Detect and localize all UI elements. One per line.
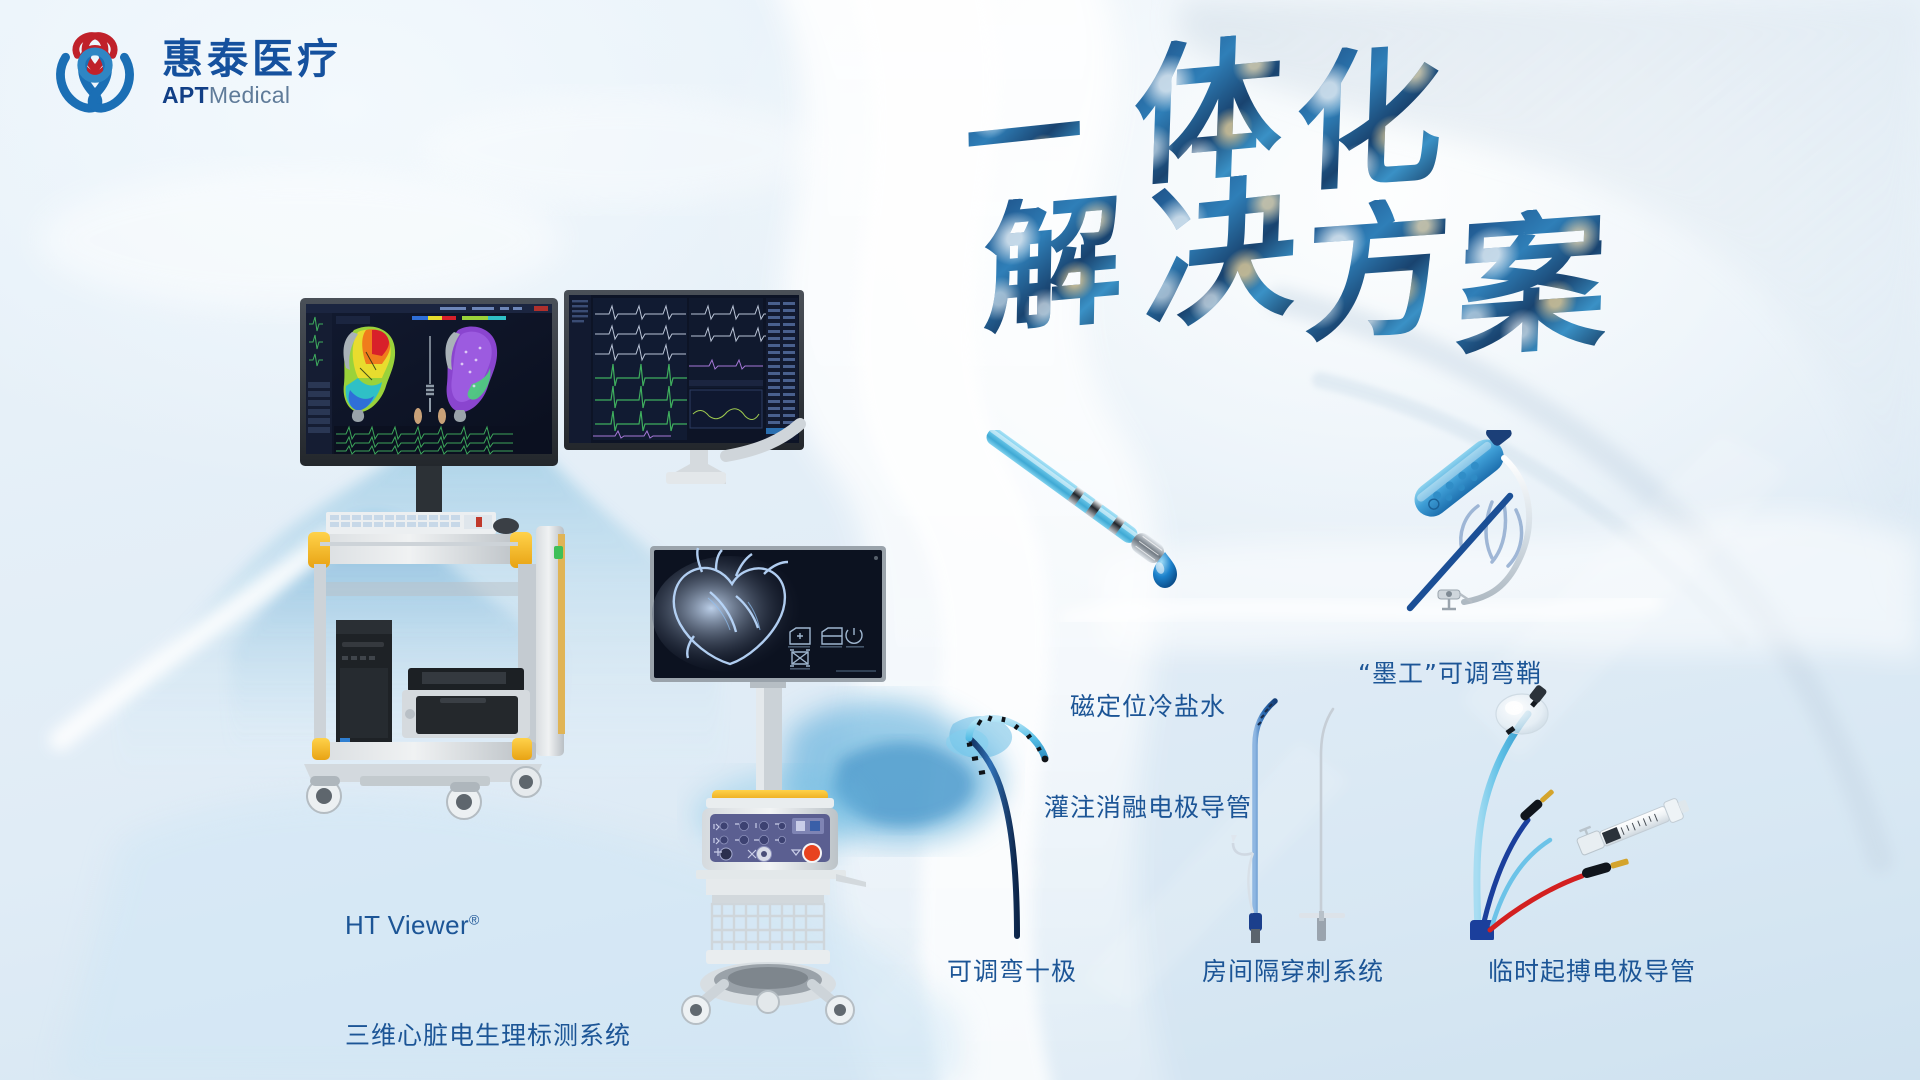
brand-en-light: Medical xyxy=(209,82,290,108)
console-cart xyxy=(682,879,854,1024)
headline-char-4: 解 xyxy=(982,190,1124,343)
heart-display-monitor xyxy=(650,546,886,688)
storage-basket xyxy=(712,904,824,952)
lead-red xyxy=(1490,876,1582,930)
label-transseptal-system: 房间隔穿刺系统 xyxy=(1202,955,1384,989)
transseptal-needle xyxy=(1299,709,1345,941)
mouse xyxy=(493,518,519,534)
poster-canvas: 惠泰医疗 APTMedical 一 体 化 解 决 方 案 xyxy=(0,0,1920,1080)
generator-control-box xyxy=(696,808,866,887)
hemostasis-valve xyxy=(1438,590,1472,609)
headline-char-7: 案 xyxy=(1455,204,1610,365)
label-ablation-line1: 磁定位冷盐水 xyxy=(1044,690,1252,724)
product-ablation-catheter xyxy=(980,430,1240,610)
brand-en-name: APTMedical xyxy=(162,83,342,108)
pc-tower xyxy=(336,620,392,750)
right-monitor xyxy=(564,290,804,484)
inflation-line xyxy=(1492,840,1550,926)
sheath-handle xyxy=(1405,430,1525,523)
headline-char-3: 化 xyxy=(1293,40,1446,199)
keyboard xyxy=(326,512,519,534)
system-label: HT Viewer® 三维心脏电生理标测系统 xyxy=(345,838,631,1080)
measurement-table xyxy=(766,298,798,440)
label-temporary-pacing-catheter: 临时起搏电极导管 xyxy=(1488,955,1696,989)
brand-en-bold: APT xyxy=(162,82,209,108)
headline-char-5: 决 xyxy=(1143,169,1300,338)
apt-medical-double-heart-logo xyxy=(46,22,144,120)
label-decapolar-catheter: 可调弯十极 xyxy=(947,955,1077,989)
catheter-shaft xyxy=(969,738,1017,936)
inflation-syringe xyxy=(1574,790,1692,858)
system-name-en: HT Viewer® xyxy=(345,908,631,943)
printer xyxy=(402,668,530,738)
emergency-button xyxy=(803,844,821,862)
label-ablation-catheter: 磁定位冷盐水 灌注消融电极导管 xyxy=(1044,622,1252,892)
headline-char-6: 方 xyxy=(1303,195,1454,352)
headline-calligraphy: 一 体 化 解 决 方 案 xyxy=(965,28,1665,358)
product-temporary-pacing-catheter xyxy=(1470,680,1760,940)
deflection-arcs xyxy=(1461,502,1522,566)
label-ablation-line2: 灌注消融电极导管 xyxy=(1044,791,1252,825)
system-name-cn: 三维心脏电生理标测系统 xyxy=(345,1019,631,1053)
brand-cn-name: 惠泰医疗 xyxy=(162,38,342,81)
left-monitor xyxy=(300,298,558,526)
workstation-cart xyxy=(304,512,565,819)
procedure-console xyxy=(640,540,920,1040)
label-steerable-sheath: “墨工”可调弯鞘 xyxy=(1358,657,1542,691)
product-steerable-sheath xyxy=(1400,430,1700,630)
brand-logo: 惠泰医疗 APTMedical xyxy=(46,22,342,120)
